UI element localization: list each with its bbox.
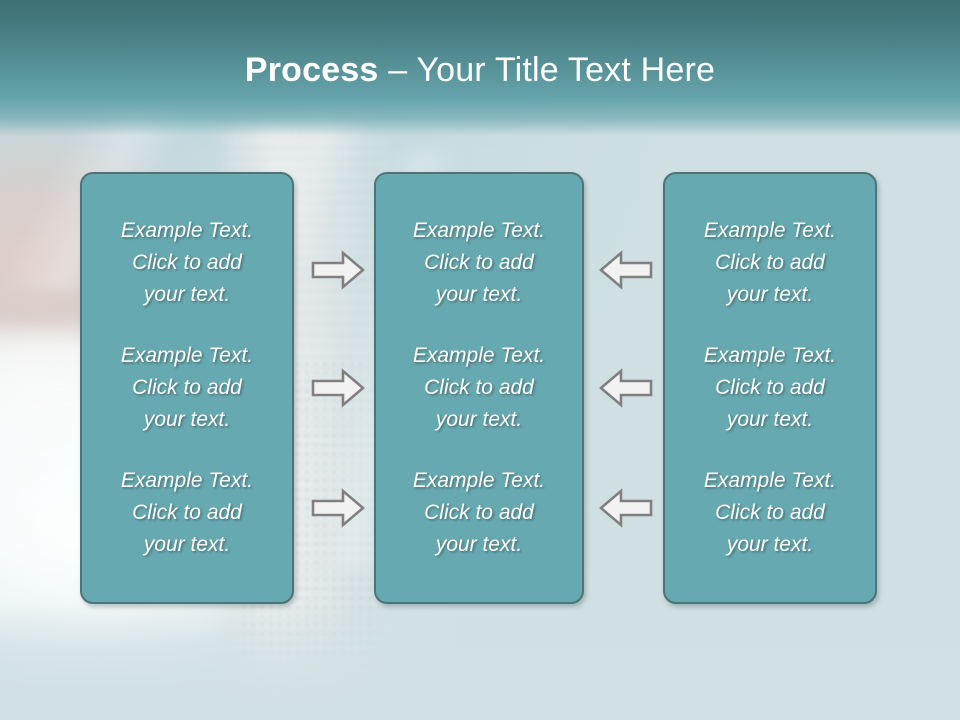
process-text-1-1[interactable]: Example Text. Click to add your text. [92, 215, 282, 311]
arrow-left-icon [598, 367, 654, 409]
arrow-right-icon [310, 249, 366, 291]
arrow-left-icon [598, 487, 654, 529]
arrow-right-icon [310, 367, 366, 409]
page-title: Process – Your Title Text Here [0, 48, 960, 92]
process-box-1[interactable]: Example Text. Click to add your text. Ex… [80, 172, 294, 604]
page-title-rest: – Your Title Text Here [379, 51, 716, 89]
process-text-1-3[interactable]: Example Text. Click to add your text. [92, 465, 282, 561]
process-text-2-3[interactable]: Example Text. Click to add your text. [386, 465, 572, 561]
process-text-1-2[interactable]: Example Text. Click to add your text. [92, 340, 282, 436]
process-text-3-3[interactable]: Example Text. Click to add your text. [675, 465, 865, 561]
arrow-left-icon [598, 249, 654, 291]
process-text-3-1[interactable]: Example Text. Click to add your text. [675, 215, 865, 311]
page-title-bold: Process [245, 51, 379, 89]
process-text-2-1[interactable]: Example Text. Click to add your text. [386, 215, 572, 311]
process-box-2[interactable]: Example Text. Click to add your text. Ex… [374, 172, 584, 604]
slide-canvas: Process – Your Title Text Here Example T… [0, 0, 960, 720]
process-text-2-2[interactable]: Example Text. Click to add your text. [386, 340, 572, 436]
background-bottom-fade [0, 600, 960, 720]
process-box-3[interactable]: Example Text. Click to add your text. Ex… [663, 172, 877, 604]
arrow-right-icon [310, 487, 366, 529]
process-text-3-2[interactable]: Example Text. Click to add your text. [675, 340, 865, 436]
